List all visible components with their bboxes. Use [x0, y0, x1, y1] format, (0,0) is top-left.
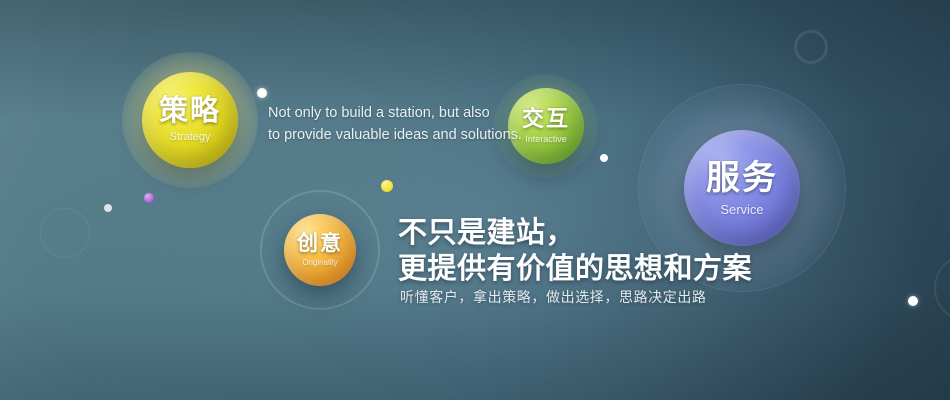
white-dot-upper-left-icon: [257, 88, 267, 98]
ring-far-right-edge-icon: [934, 254, 950, 322]
english-tagline: Not only to build a station, but also to…: [268, 103, 498, 147]
headline-line2: 更提供有价值的思想和方案: [398, 252, 752, 288]
yellow-dot-center-icon: [381, 180, 393, 192]
hero-banner: 策略 Strategy 交互 Interactive 创意 Originalit…: [0, 0, 950, 400]
sphere-strategy-en-label: Strategy: [170, 132, 211, 143]
white-dot-bottom-right-icon: [908, 296, 918, 306]
sphere-originality-en-label: Originality: [302, 259, 338, 267]
white-dot-right-mid-icon: [600, 154, 608, 162]
english-tagline-line2: to provide valuable ideas and solutions.: [268, 125, 498, 147]
sphere-interactive-en-label: Interactive: [525, 135, 567, 144]
purple-dot-left-icon: [144, 193, 154, 203]
sphere-interactive-cn-label: 交互: [522, 108, 570, 130]
sphere-originality-cn-label: 创意: [297, 233, 343, 254]
sphere-service-cn-label: 服务: [706, 161, 778, 195]
sphere-strategy[interactable]: 策略 Strategy: [142, 72, 238, 168]
ring-left-faint-icon: [40, 208, 90, 258]
white-dot-left-mid-icon: [104, 204, 112, 212]
sphere-originality[interactable]: 创意 Originality: [284, 214, 356, 286]
sphere-interactive[interactable]: 交互 Interactive: [508, 88, 584, 164]
headline-line1: 不只是建站，: [398, 216, 752, 252]
sphere-strategy-cn-label: 策略: [159, 97, 221, 126]
sphere-service-en-label: Service: [720, 203, 763, 216]
page-title: 不只是建站， 更提供有价值的思想和方案: [398, 216, 752, 287]
english-tagline-line1: Not only to build a station, but also: [268, 103, 498, 125]
subheadline: 听懂客户，拿出策略，做出选择，思路决定出路: [400, 287, 707, 307]
ring-top-right-small-icon: [794, 30, 828, 64]
